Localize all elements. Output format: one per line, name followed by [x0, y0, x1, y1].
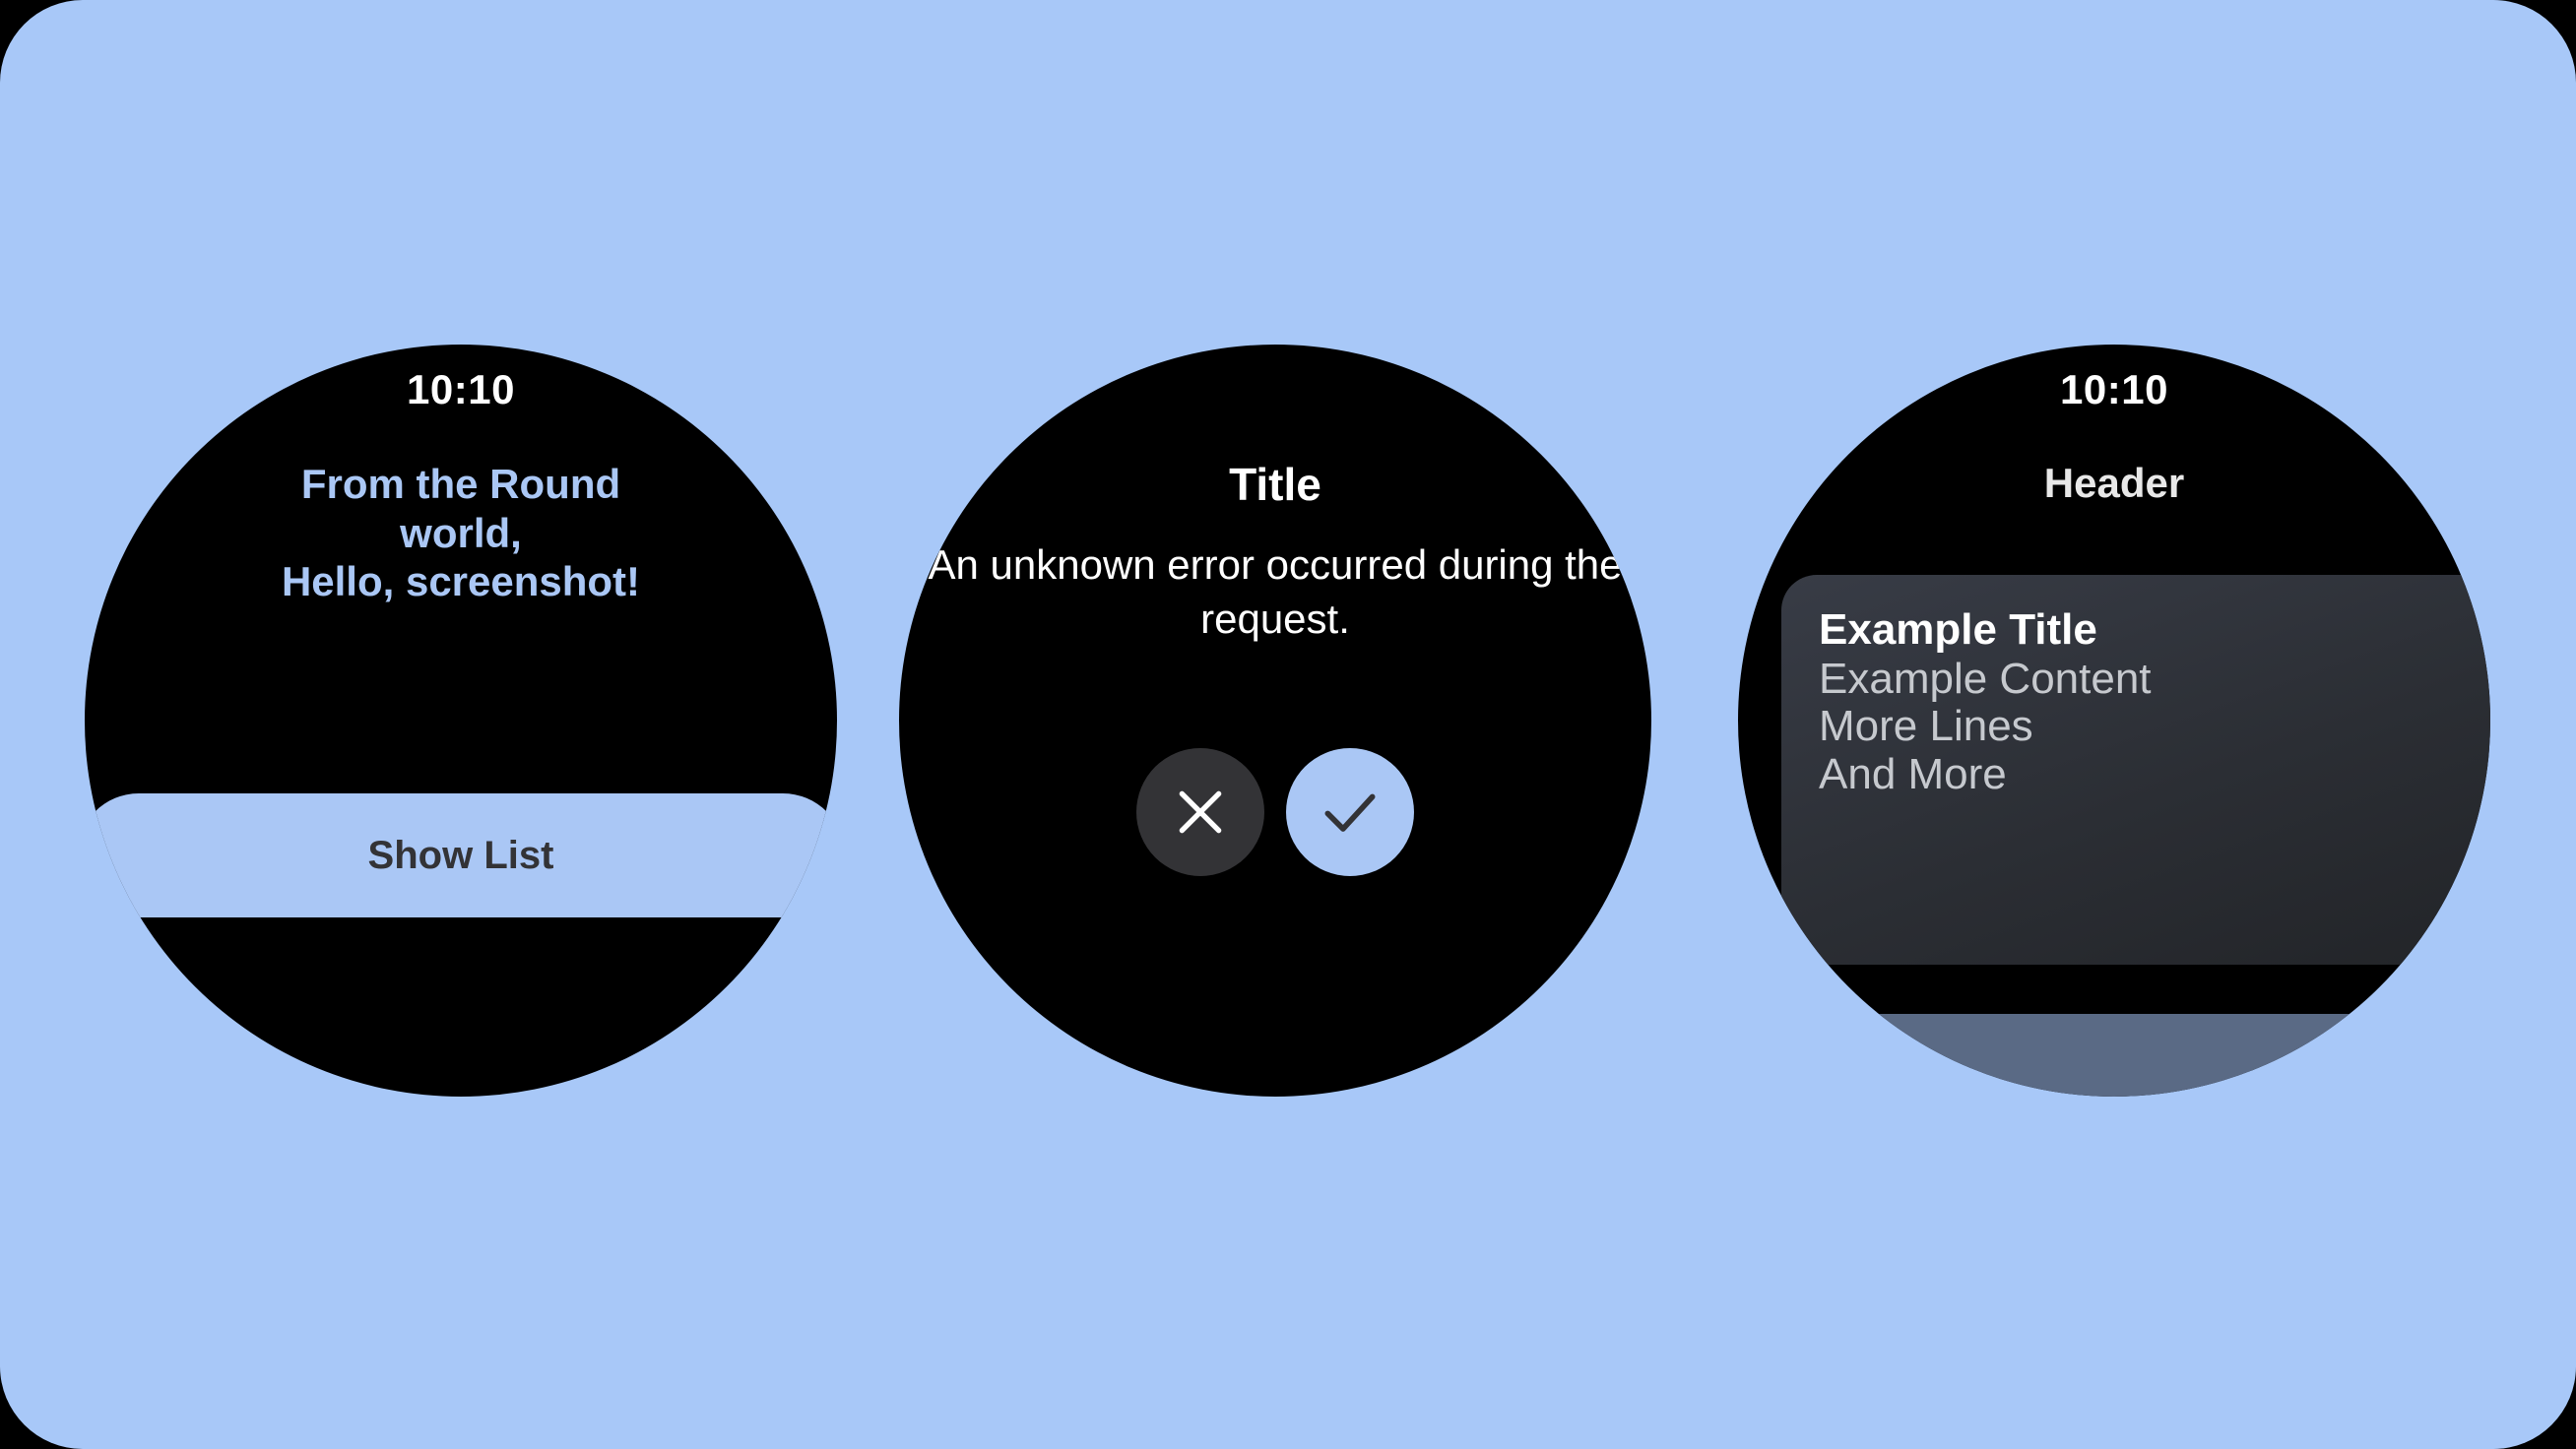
watch-preview-scaffold-card: 10:10 Header Example Title Example Conte…: [1738, 345, 2490, 1097]
card-line-1: Example Content: [1819, 656, 2465, 703]
greeting-line-1: From the Round: [132, 460, 790, 509]
watch-preview-round-greeting: 10:10 From the Round world, Hello, scree…: [85, 345, 837, 1097]
dialog-action-row: [899, 748, 1651, 876]
dialog-message: An unknown error occurred during the req…: [921, 537, 1630, 647]
close-icon: [1169, 781, 1232, 844]
card-title: Example Title: [1819, 604, 2465, 656]
card-line-3: And More: [1819, 751, 2465, 798]
example-card[interactable]: Example Title Example Content More Lines…: [1781, 575, 2490, 965]
confirm-button[interactable]: [1286, 748, 1414, 876]
scaffold-header: Header: [1738, 460, 2490, 507]
dismiss-button[interactable]: [1136, 748, 1264, 876]
greeting-text: From the Round world, Hello, screenshot!: [132, 460, 790, 606]
greeting-line-2: world,: [132, 509, 790, 558]
greeting-line-3: Hello, screenshot!: [132, 557, 790, 606]
screenshot-canvas: 10:10 From the Round world, Hello, scree…: [0, 0, 2576, 1449]
status-time: 10:10: [85, 366, 837, 413]
check-icon: [1317, 779, 1384, 846]
card-line-2: More Lines: [1819, 703, 2465, 750]
watch-preview-alert-dialog: Title An unknown error occurred during t…: [899, 345, 1651, 1097]
status-time: 10:10: [1738, 366, 2490, 413]
scroll-indicator[interactable]: [1738, 1014, 2490, 1097]
show-list-button[interactable]: Show List: [85, 793, 837, 917]
dialog-title: Title: [899, 458, 1651, 511]
